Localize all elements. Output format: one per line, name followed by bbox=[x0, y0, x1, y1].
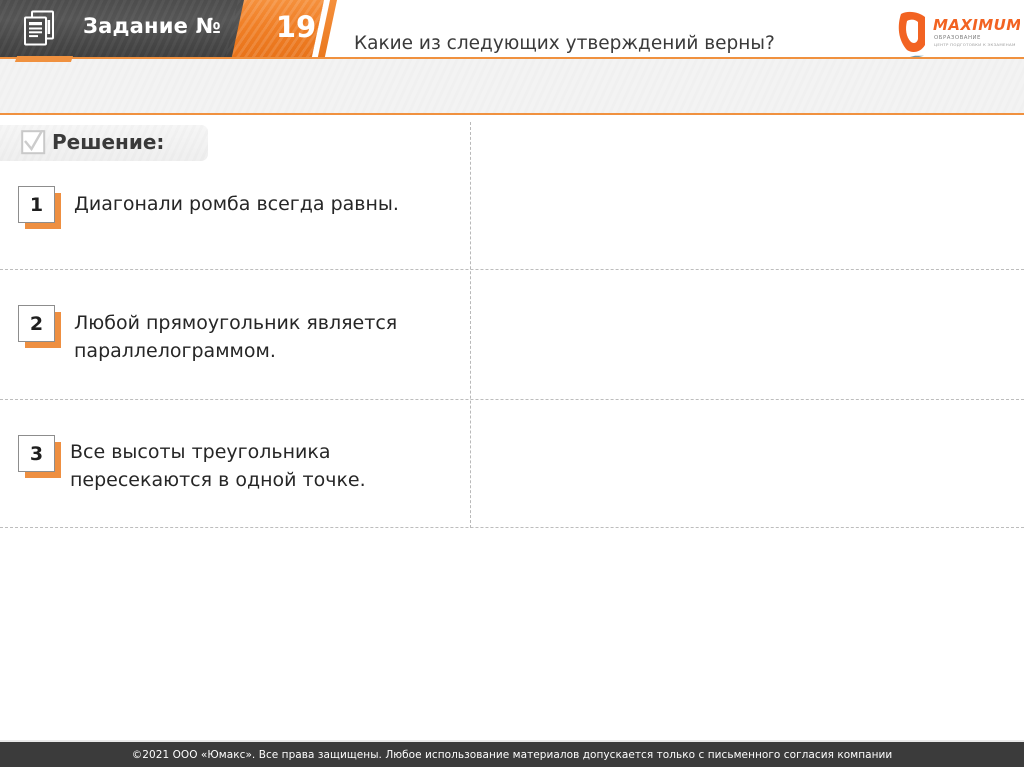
grid-row-divider-1 bbox=[0, 269, 1024, 270]
grid-vertical-divider bbox=[470, 122, 471, 528]
checkbox-checked-icon bbox=[21, 130, 46, 155]
svg-text:MAXIMUM: MAXIMUM bbox=[933, 16, 1020, 34]
number-badge-face: 2 bbox=[18, 305, 55, 342]
statement-number-badge: 2 bbox=[18, 305, 62, 349]
band-orange-tab bbox=[15, 56, 73, 62]
task-number: 19 bbox=[267, 10, 325, 44]
header-band bbox=[0, 57, 1024, 115]
statement-text: Диагонали ромба всегда равны. bbox=[74, 190, 464, 218]
copyright-text: ©2021 ООО «Юмакс». Все права защищены. Л… bbox=[132, 749, 893, 761]
number-badge-face: 3 bbox=[18, 435, 55, 472]
grid-row-divider-2 bbox=[0, 399, 1024, 400]
document-stack-icon bbox=[21, 10, 57, 47]
footer-bar: ©2021 ООО «Юмакс». Все права защищены. Л… bbox=[0, 742, 1024, 767]
slide-root: Задание № 19 Какие из следующих утвержде… bbox=[0, 0, 1024, 767]
statement-text: Все высоты треугольника пересекаются в о… bbox=[70, 438, 460, 494]
statement-number-badge: 1 bbox=[18, 186, 62, 230]
grid-row-divider-3 bbox=[0, 527, 1024, 528]
solution-label: Решение: bbox=[52, 130, 164, 154]
task-label: Задание № bbox=[83, 14, 221, 38]
maximum-logo: MAXIMUM ОБРАЗОВАНИЕ ЦЕНТР ПОДГОТОВКИ К Э… bbox=[895, 8, 1020, 56]
statement-text: Любой прямоугольник является параллелогр… bbox=[74, 309, 464, 365]
header-bar: Задание № 19 Какие из следующих утвержде… bbox=[0, 0, 1024, 57]
question-title: Какие из следующих утверждений верны? bbox=[354, 33, 775, 54]
svg-text:ЦЕНТР ПОДГОТОВКИ К ЭКЗАМЕНАМ: ЦЕНТР ПОДГОТОВКИ К ЭКЗАМЕНАМ bbox=[934, 42, 1016, 47]
statement-number-badge: 3 bbox=[18, 435, 62, 479]
svg-text:ОБРАЗОВАНИЕ: ОБРАЗОВАНИЕ bbox=[934, 35, 981, 41]
number-badge-face: 1 bbox=[18, 186, 55, 223]
